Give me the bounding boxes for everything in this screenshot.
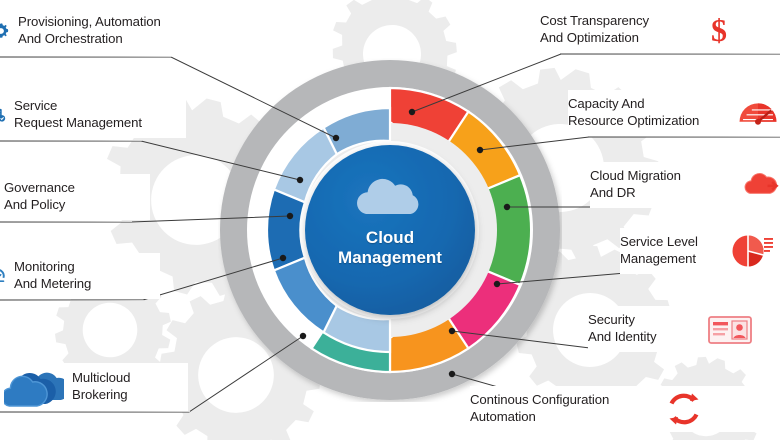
label-text: Service Level Management bbox=[620, 234, 730, 268]
label-rule bbox=[0, 411, 190, 412]
label-text: Capacity And Resource Optimization bbox=[568, 96, 736, 130]
diagram-canvas: Cloud Management bbox=[0, 0, 780, 440]
monitor-gauge-icon bbox=[0, 263, 6, 289]
request-list-icon bbox=[0, 103, 6, 127]
label-text: Service Request Management bbox=[14, 98, 142, 132]
label-provisioning-automation[interactable]: Provisioning, Automation And Orchestrati… bbox=[0, 8, 200, 54]
label-capacity-resource[interactable]: Capacity And Resource Optimization bbox=[568, 90, 780, 136]
label-cloud-migration[interactable]: Cloud Migration And DR bbox=[590, 162, 780, 208]
label-rule bbox=[0, 300, 144, 301]
cloud-migration-icon bbox=[740, 169, 780, 201]
label-continous-config[interactable]: Continous Configuration Automation bbox=[470, 386, 780, 432]
label-service-level[interactable]: Service Level Management bbox=[620, 228, 780, 274]
svg-text:$: $ bbox=[711, 12, 727, 48]
label-rule bbox=[560, 53, 780, 54]
label-text: Cost Transparency And Optimization bbox=[540, 13, 700, 47]
label-rule bbox=[0, 56, 172, 57]
dollar-icon: $ bbox=[700, 12, 738, 48]
label-security-identity[interactable]: Security And Identity bbox=[588, 306, 780, 352]
label-rule bbox=[588, 136, 780, 137]
label-text: Monitoring And Metering bbox=[14, 259, 91, 293]
label-text: Provisioning, Automation And Orchestrati… bbox=[18, 14, 161, 48]
label-multicloud-brokering[interactable]: Multicloud Brokering bbox=[4, 363, 188, 411]
gauge-icon bbox=[736, 96, 780, 130]
label-text: Multicloud Brokering bbox=[72, 370, 130, 404]
center-title: Cloud Management bbox=[296, 228, 484, 267]
label-text: Continous Configuration Automation bbox=[470, 392, 660, 426]
label-governance-policy[interactable]: Governance And Policy bbox=[0, 174, 150, 220]
refresh-cycle-icon bbox=[660, 390, 708, 428]
label-service-request[interactable]: Service Request Management bbox=[0, 92, 186, 138]
label-monitoring-metering[interactable]: Monitoring And Metering bbox=[0, 253, 160, 299]
multi-cloud-icon bbox=[4, 366, 64, 408]
pie-chart-icon bbox=[730, 232, 774, 270]
gear-icon bbox=[0, 19, 10, 43]
label-text: Security And Identity bbox=[588, 312, 706, 346]
label-rule bbox=[0, 221, 132, 222]
label-text: Governance And Policy bbox=[4, 180, 75, 214]
label-rule bbox=[0, 140, 142, 141]
id-card-icon bbox=[706, 311, 758, 347]
label-cost-transparency[interactable]: Cost Transparency And Optimization $ bbox=[540, 8, 780, 52]
label-text: Cloud Migration And DR bbox=[590, 168, 740, 202]
